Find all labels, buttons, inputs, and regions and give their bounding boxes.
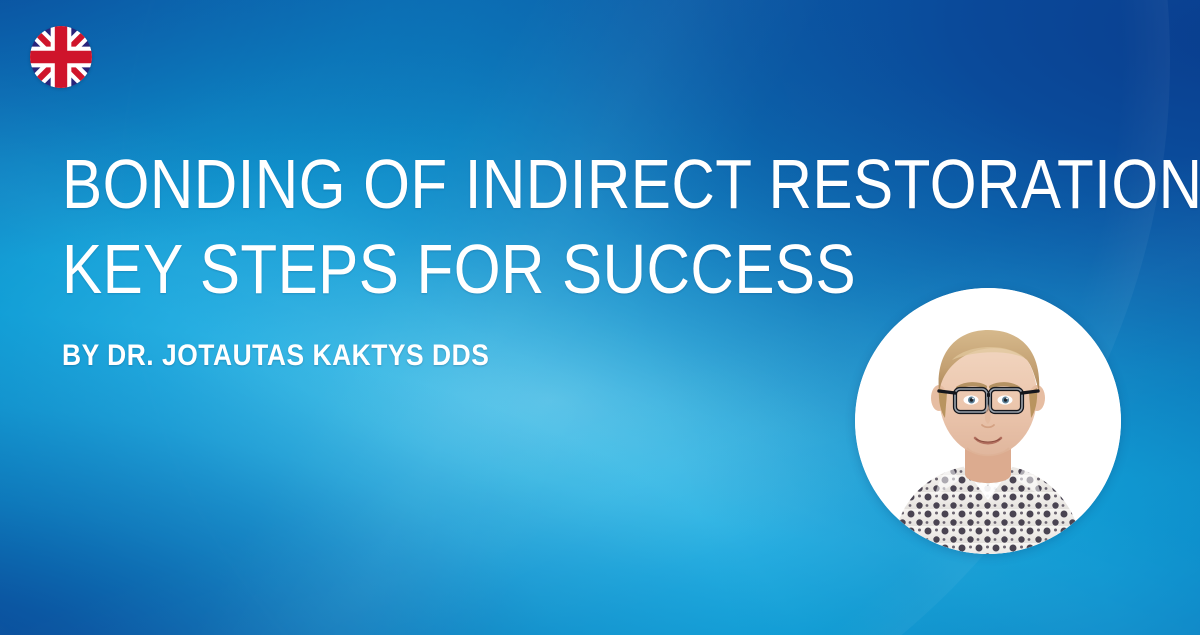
page-title: Bonding of Indirect Restorations: Key St… [62, 142, 767, 313]
page-title-line-2: Key Steps for Success [62, 227, 767, 312]
hero-copy: Bonding of Indirect Restorations: Key St… [62, 142, 882, 372]
article-hero-banner: Bonding of Indirect Restorations: Key St… [0, 0, 1200, 635]
avatar [855, 288, 1121, 554]
uk-flag-icon[interactable] [30, 26, 92, 88]
author-byline: By Dr. Jotautas Kaktys DDS [62, 339, 784, 372]
page-title-line-1: Bonding of Indirect Restorations: [62, 142, 767, 227]
